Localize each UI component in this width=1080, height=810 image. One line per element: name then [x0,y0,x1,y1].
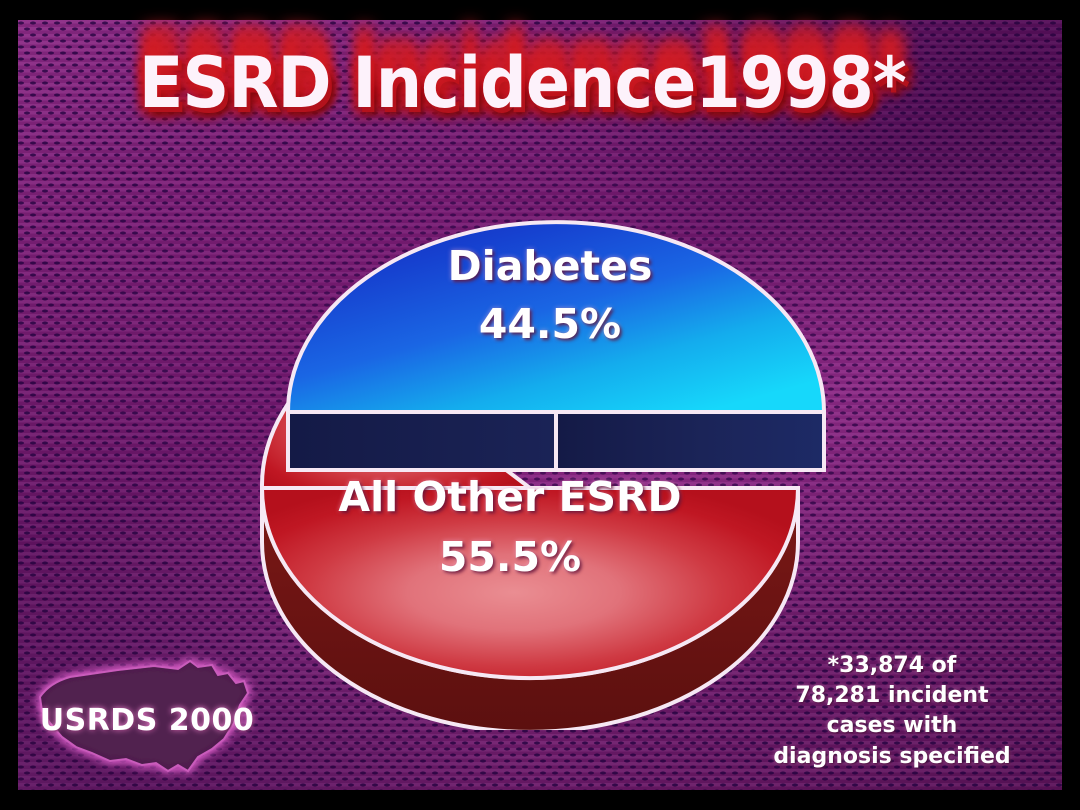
pie-label-all-other-esrd-name: All Other ESRD [280,473,740,521]
footnote-line-3: cases with [742,711,1042,741]
page-title-text: ESRD Incidence1998* [138,48,905,119]
pie-label-all-other-esrd-value: 55.5% [280,533,740,581]
footnote-line-4: diagnosis specified [742,742,1042,772]
pie-slice-diabetes-side-right [556,412,824,470]
usrds-logo: USRDS 2000 [22,653,272,788]
page-title: ESRD Incidence1998* [0,48,1044,119]
usrds-logo-text: USRDS 2000 [22,703,272,738]
pie-label-diabetes-value: 44.5% [340,300,760,348]
footnote: *33,874 of 78,281 incident cases with di… [742,651,1042,772]
footnote-line-1: *33,874 of [742,651,1042,681]
slide-canvas: ESRD Incidence1998* [0,0,1080,810]
footnote-line-2: 78,281 incident [742,681,1042,711]
pie-label-diabetes-name: Diabetes [340,242,760,290]
